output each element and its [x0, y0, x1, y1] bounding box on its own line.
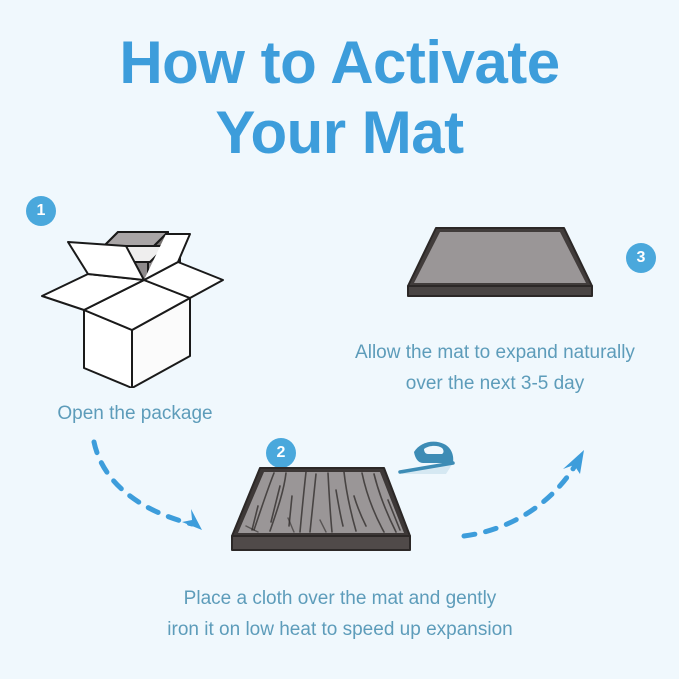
title-line-1: How to Activate — [0, 28, 679, 98]
dashed-arrow-step1-to-step2 — [88, 438, 228, 548]
flat-expanded-mat-icon — [400, 218, 600, 313]
open-cardboard-box-icon — [40, 218, 225, 393]
caption-line: Open the package — [10, 398, 260, 429]
mat-with-cloth-icon — [228, 460, 414, 565]
clothes-iron-icon — [396, 436, 458, 489]
caption-line: Allow the mat to expand naturally — [320, 337, 670, 368]
title-line-2: Your Mat — [0, 98, 679, 168]
step-badge-3: 3 — [626, 243, 656, 273]
dashed-arrow-step2-to-step3 — [458, 438, 598, 548]
caption-line: over the next 3-5 day — [320, 368, 670, 399]
step-2-caption: Place a cloth over the mat and gently ir… — [115, 583, 565, 645]
caption-line: Place a cloth over the mat and gently — [115, 583, 565, 614]
step-3-caption: Allow the mat to expand naturally over t… — [320, 337, 670, 399]
infographic-canvas: How to Activate Your Mat 1 — [0, 0, 679, 679]
step-1-caption: Open the package — [10, 398, 260, 429]
caption-line: iron it on low heat to speed up expansio… — [115, 614, 565, 645]
page-title: How to Activate Your Mat — [0, 28, 679, 168]
